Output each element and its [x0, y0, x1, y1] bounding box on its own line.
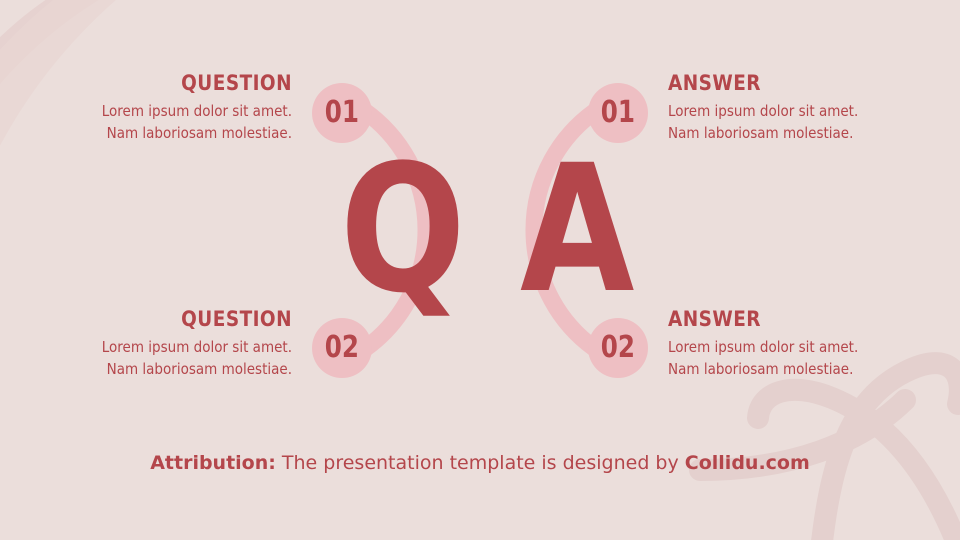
answer-2-line-2: Nam laboriosam molestiae.: [668, 358, 893, 380]
badge-question-02[interactable]: 02: [312, 318, 372, 378]
text-block-question-2: QUESTION Lorem ipsum dolor sit amet. Nam…: [42, 308, 292, 380]
question-1-line-1: Lorem ipsum dolor sit amet.: [67, 100, 292, 122]
badge-answer-01-label: 01: [601, 98, 635, 128]
question-1-line-2: Nam laboriosam molestiae.: [67, 122, 292, 144]
answer-1-line-1: Lorem ipsum dolor sit amet.: [668, 100, 893, 122]
badge-question-01-label: 01: [325, 98, 359, 128]
question-1-title: QUESTION: [72, 72, 292, 95]
answer-2-line-1: Lorem ipsum dolor sit amet.: [668, 336, 893, 358]
attribution-label: Attribution:: [150, 452, 276, 474]
text-block-question-1: QUESTION Lorem ipsum dolor sit amet. Nam…: [42, 72, 292, 144]
answer-1-line-2: Nam laboriosam molestiae.: [668, 122, 893, 144]
badge-answer-01[interactable]: 01: [588, 83, 648, 143]
answer-2-title: ANSWER: [668, 308, 888, 331]
question-2-line-1: Lorem ipsum dolor sit amet.: [67, 336, 292, 358]
badge-answer-02[interactable]: 02: [588, 318, 648, 378]
attribution-line: Attribution: The presentation template i…: [0, 452, 960, 474]
question-2-title: QUESTION: [72, 308, 292, 331]
big-letter-q: Q: [340, 142, 464, 318]
badge-question-01[interactable]: 01: [312, 83, 372, 143]
badge-question-02-label: 02: [325, 333, 359, 363]
big-letter-a: A: [520, 142, 633, 318]
question-2-line-2: Nam laboriosam molestiae.: [67, 358, 292, 380]
qa-slide: Q A 01 02 01 02 QUESTION Lorem ipsum dol…: [0, 0, 960, 540]
answer-1-title: ANSWER: [668, 72, 888, 95]
attribution-middle-text: The presentation template is designed by: [276, 452, 685, 474]
attribution-brand-link[interactable]: Collidu.com: [685, 452, 810, 474]
text-block-answer-2: ANSWER Lorem ipsum dolor sit amet. Nam l…: [668, 308, 918, 380]
badge-answer-02-label: 02: [601, 333, 635, 363]
text-block-answer-1: ANSWER Lorem ipsum dolor sit amet. Nam l…: [668, 72, 918, 144]
